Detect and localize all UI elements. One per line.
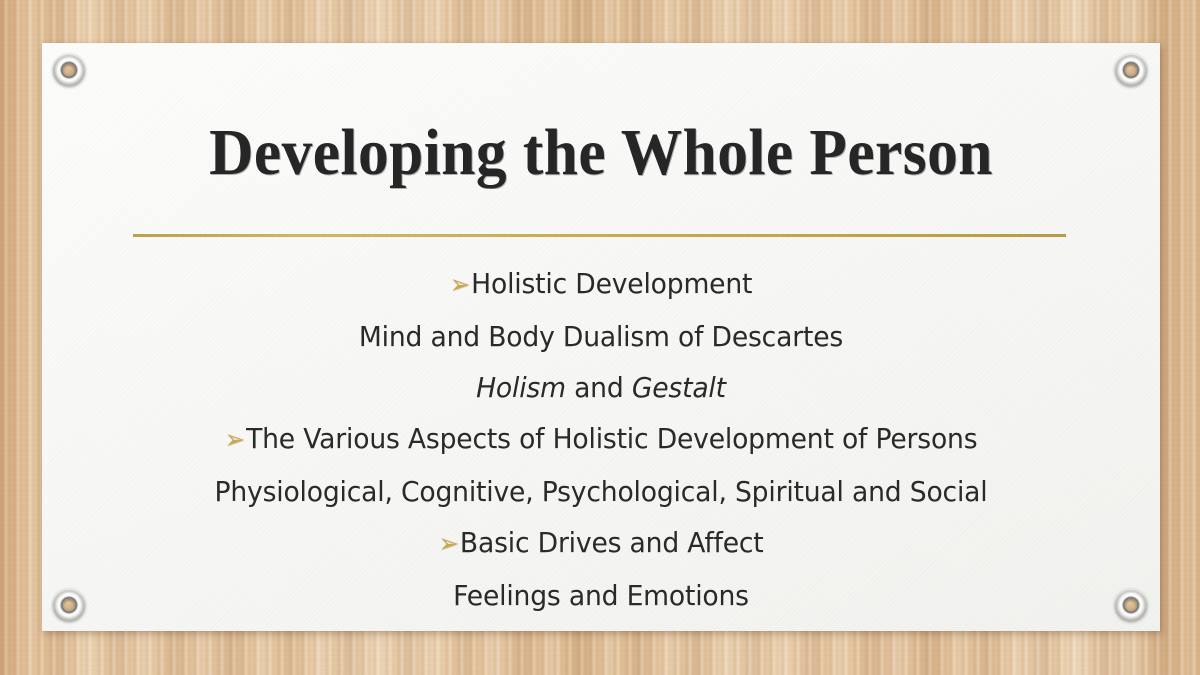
arrow-bullet-icon: ➢ [225,425,246,455]
body-line-text: Mind and Body Dualism of Descartes [359,320,843,353]
body-term-italic: Holism [476,371,566,404]
title-block: Developing the Whole Person [42,118,1160,187]
body-line: Feelings and Emotions [87,570,1115,621]
body-line: Holism and Gestalt [87,362,1115,413]
gold-divider-rule [133,234,1066,237]
body-line-text: The Various Aspects of Holistic Developm… [246,422,977,455]
presentation-slide: Developing the Whole Person ➢Holistic De… [0,0,1200,675]
arrow-bullet-icon: ➢ [450,270,471,300]
body-term-italic: Gestalt [632,371,726,404]
arrow-bullet-icon: ➢ [438,529,459,559]
grommet-top-right-icon [1115,54,1147,86]
body-line: ➢The Various Aspects of Holistic Develop… [87,413,1115,466]
body-line-text: Feelings and Emotions [453,579,749,612]
body-line-text: Basic Drives and Affect [460,526,764,559]
body-text-segment: and [566,371,632,404]
grommet-top-left-icon [53,54,85,86]
body-line-text: Holistic Development [471,267,752,300]
body-line-text: Physiological, Cognitive, Psychological,… [215,475,988,508]
slide-title: Developing the Whole Person [81,118,1121,187]
body-line: Mind and Body Dualism of Descartes [87,311,1115,362]
body-line: ➢Basic Drives and Affect [87,517,1115,570]
slide-body-list: ➢Holistic DevelopmentMind and Body Duali… [60,258,1142,621]
body-line: ➢Holistic Development [87,258,1115,311]
body-line: Physiological, Cognitive, Psychological,… [87,466,1115,517]
